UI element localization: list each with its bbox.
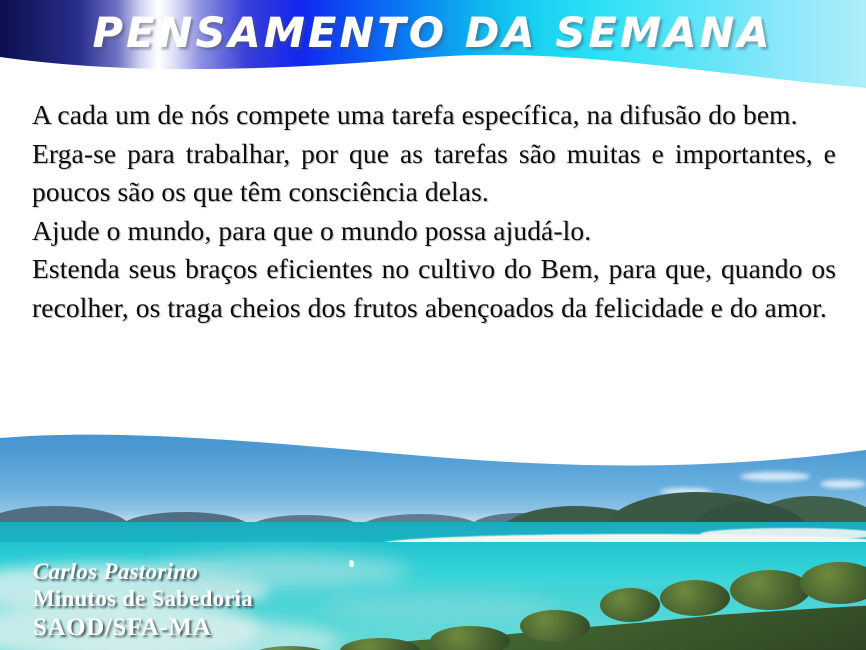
foreground-bush bbox=[520, 610, 590, 642]
cloud-icon bbox=[300, 439, 360, 445]
quote-text-block: A cada um de nós compete uma tarefa espe… bbox=[32, 96, 836, 327]
foreground-bush bbox=[660, 580, 730, 616]
organization-name: SAOD/SFA-MA bbox=[33, 613, 453, 643]
cloud-icon bbox=[820, 480, 866, 488]
source-title: Minutos de Sabedoria bbox=[33, 585, 453, 613]
attribution-block: Carlos Pastorino Minutos de Sabedoria SA… bbox=[33, 558, 453, 643]
quote-paragraph-4: Estenda seus braços eficientes no cultiv… bbox=[32, 250, 836, 327]
foreground-bush bbox=[600, 588, 660, 622]
quote-paragraph-1: A cada um de nós compete uma tarefa espe… bbox=[32, 96, 836, 135]
slide-canvas: PENSAMENTO DA SEMANA A cada um de nós co… bbox=[0, 0, 866, 650]
header-banner: PENSAMENTO DA SEMANA bbox=[0, 0, 866, 96]
quote-paragraph-2: Erga-se para trabalhar, por que as taref… bbox=[32, 135, 836, 212]
author-name: Carlos Pastorino bbox=[33, 558, 453, 585]
cloud-icon bbox=[740, 472, 810, 481]
sand-bar bbox=[700, 528, 866, 540]
quote-paragraph-3: Ajude o mundo, para que o mundo possa aj… bbox=[32, 212, 836, 251]
foreground-bush bbox=[730, 570, 810, 610]
page-title: PENSAMENTO DA SEMANA bbox=[93, 9, 773, 57]
